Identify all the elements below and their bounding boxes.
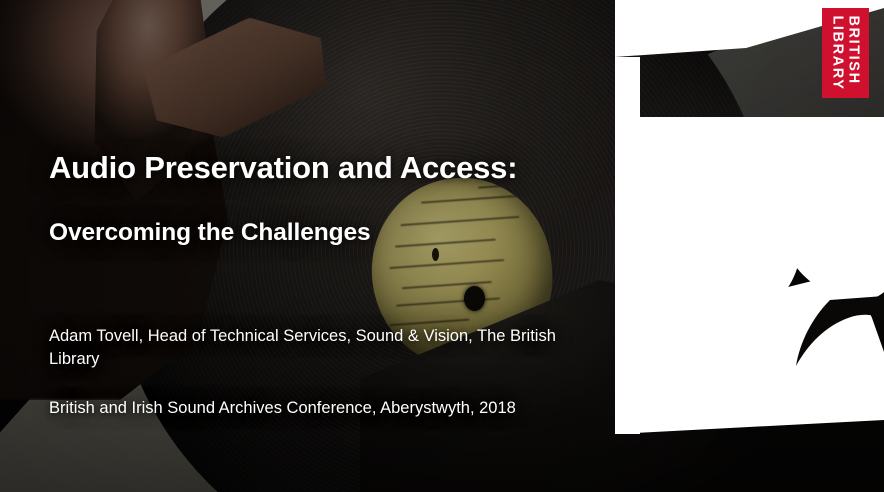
presenter-line: Adam Tovell, Head of Technical Services,… [49,325,589,372]
logo-line-library: LIBRARY [831,15,846,90]
british-library-logo-text: BRITISH LIBRARY [831,15,861,90]
page-title: Audio Preservation and Access: [49,150,517,186]
title-slide: Audio Preservation and Access: Overcomin… [0,0,884,492]
event-line: British and Irish Sound Archives Confere… [49,397,589,420]
british-library-logo: BRITISH LIBRARY [822,8,869,98]
logo-line-british: BRITISH [846,15,861,84]
page-subtitle: Overcoming the Challenges [49,219,371,247]
slide-text-block: Audio Preservation and Access: Overcomin… [49,0,594,492]
